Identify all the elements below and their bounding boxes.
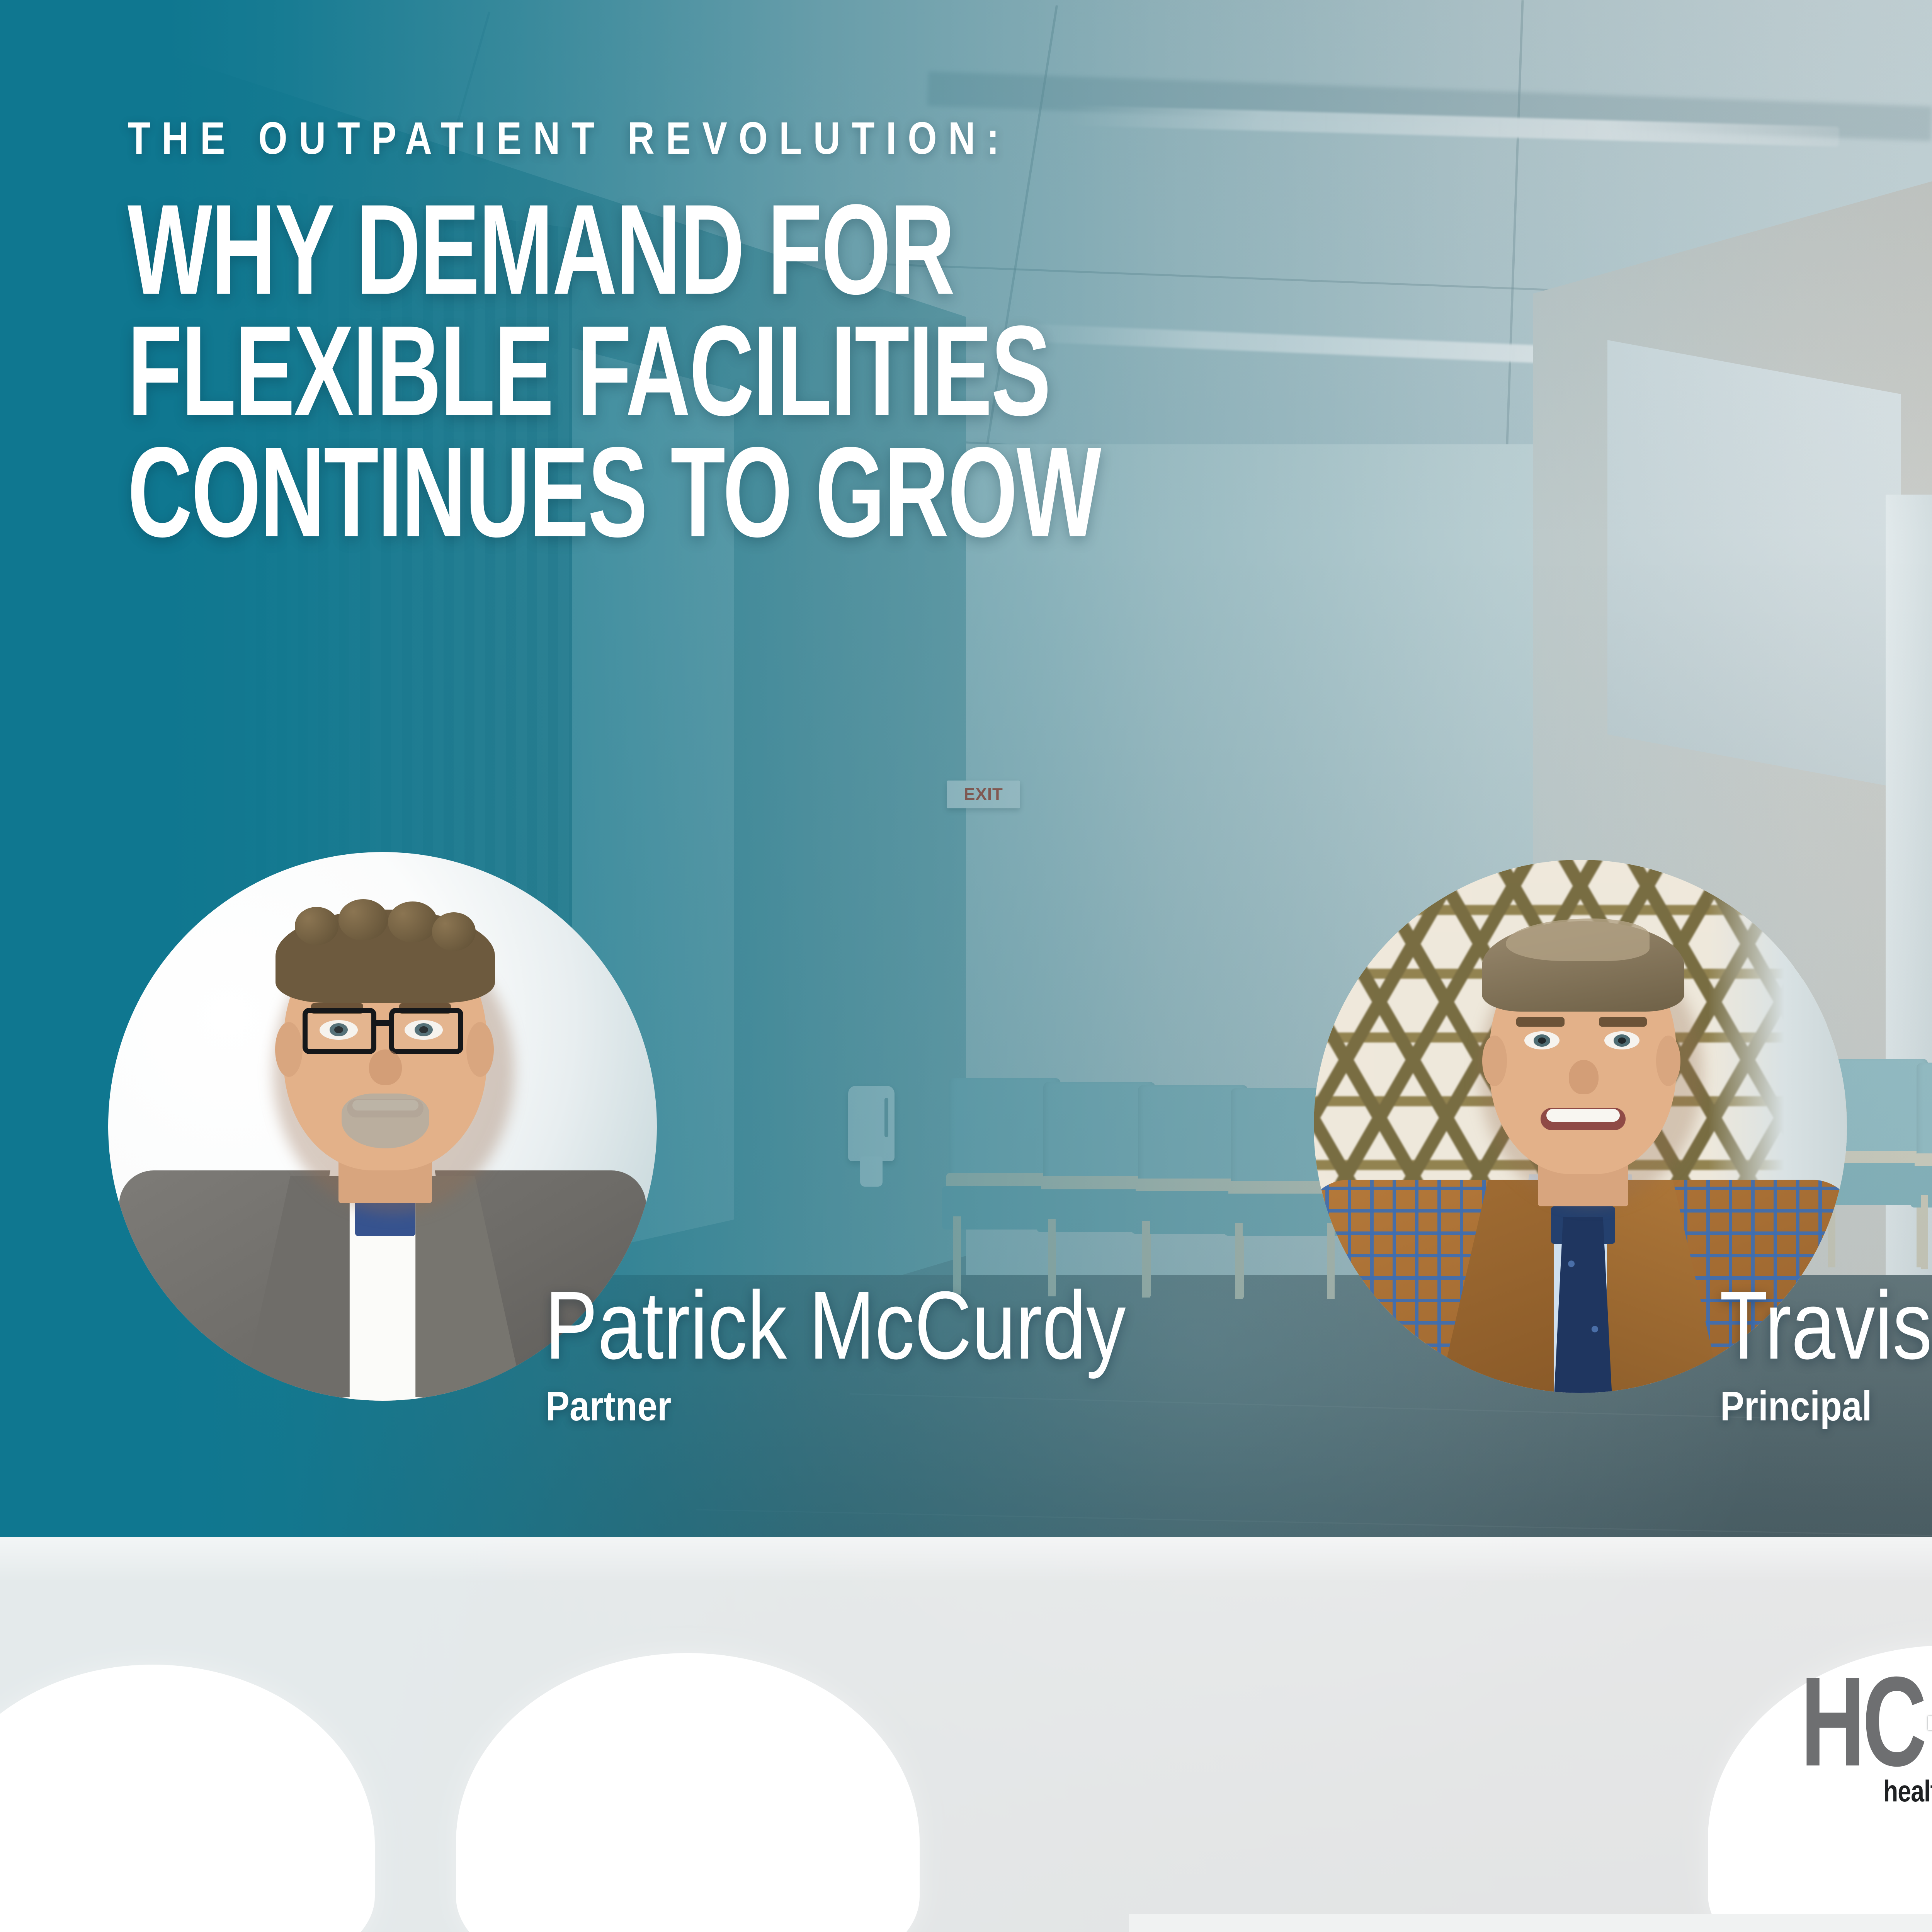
headline-line-2: FLEXIBLE FACILITIES xyxy=(128,307,1100,435)
speaker-role-patrick-mccurdy: Partner xyxy=(546,1385,671,1427)
page-title: WHY DEMAND FOR FLEXIBLE FACILITIES CONTI… xyxy=(128,185,1100,549)
logo-hco-news[interactable]: HC+ONEWS healthcare construction+operati… xyxy=(1801,1662,1932,1781)
speaker-name-patrick-mccurdy: Patrick McCurdy xyxy=(545,1277,1126,1374)
logo-tagline: healthcare construction+operations xyxy=(1883,1774,1932,1809)
logo-hc: HC xyxy=(1801,1650,1924,1793)
headline-line-1: WHY DEMAND FOR xyxy=(128,185,1100,314)
speaker-role-travis-leissner: Principal xyxy=(1720,1385,1872,1427)
logo-plus-icon: + xyxy=(1924,1650,1932,1793)
white-overlay-band xyxy=(0,1537,1932,1932)
band-top-sheen xyxy=(0,1537,1932,1583)
eyebrow-kicker: THE OUTPATIENT REVOLUTION: xyxy=(128,112,1010,165)
speaker-name-travis-leissner: Travis Leissner xyxy=(1719,1277,1932,1374)
headline-line-3: CONTINUES TO GROW xyxy=(128,428,1100,556)
promo-graphic: EXIT EXIT THE OUTPATIENT REVOLUTION: WHY… xyxy=(0,0,1932,1932)
logo-wordmark: HC+ONEWS xyxy=(1801,1662,1932,1781)
